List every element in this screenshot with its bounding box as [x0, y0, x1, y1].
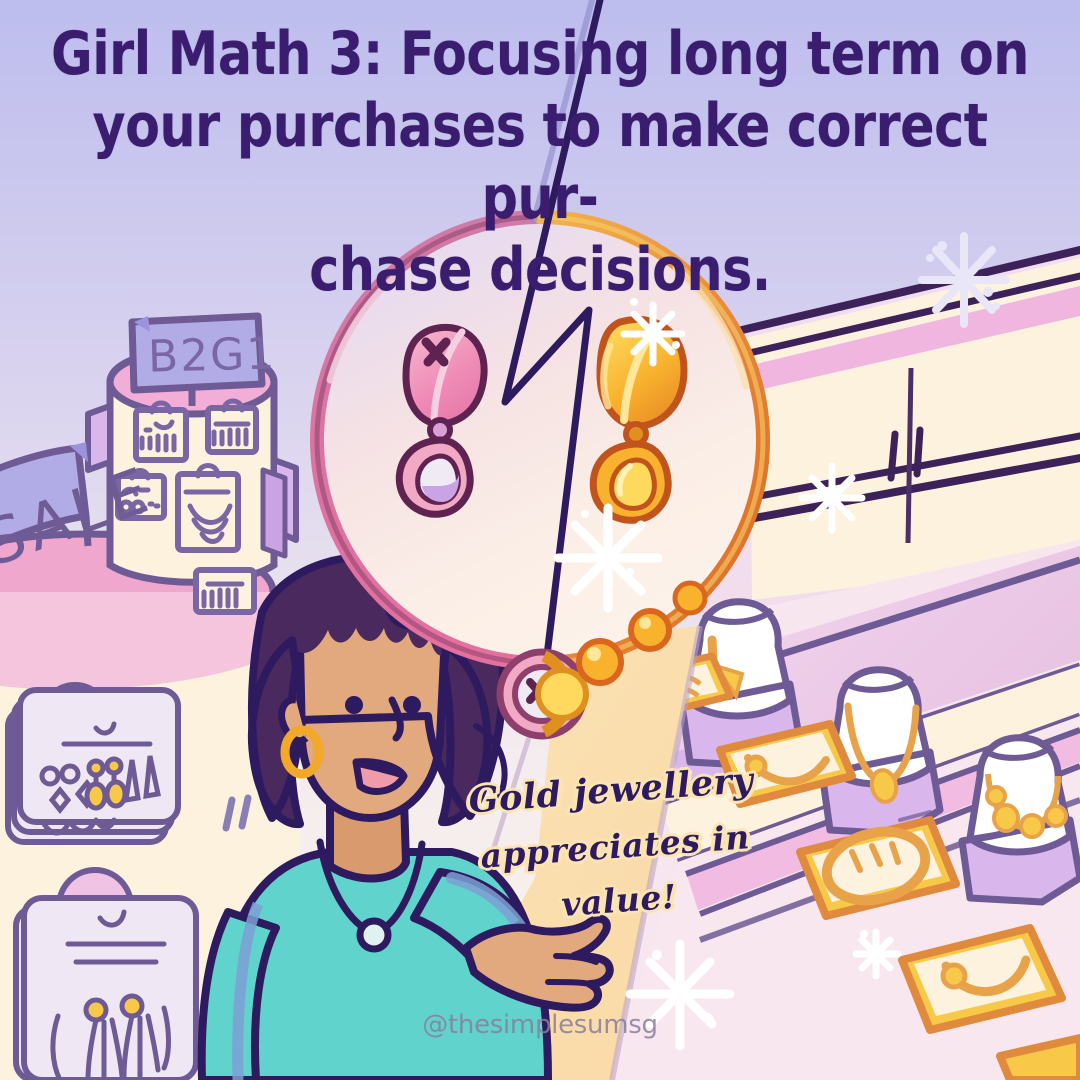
sparkle-icon-3	[922, 236, 1006, 324]
scene-sparkles	[922, 236, 1006, 324]
sparkle-icon	[558, 508, 658, 608]
bubble-tail-pendant	[500, 652, 586, 736]
earring-card-2	[16, 870, 196, 1080]
earring-card-1	[8, 685, 178, 842]
illustration-canvas: Girl Math 3: Focusing long term on your …	[0, 0, 1080, 1080]
sparkle-icon-4	[802, 466, 862, 530]
scene-artwork	[0, 0, 1080, 1080]
